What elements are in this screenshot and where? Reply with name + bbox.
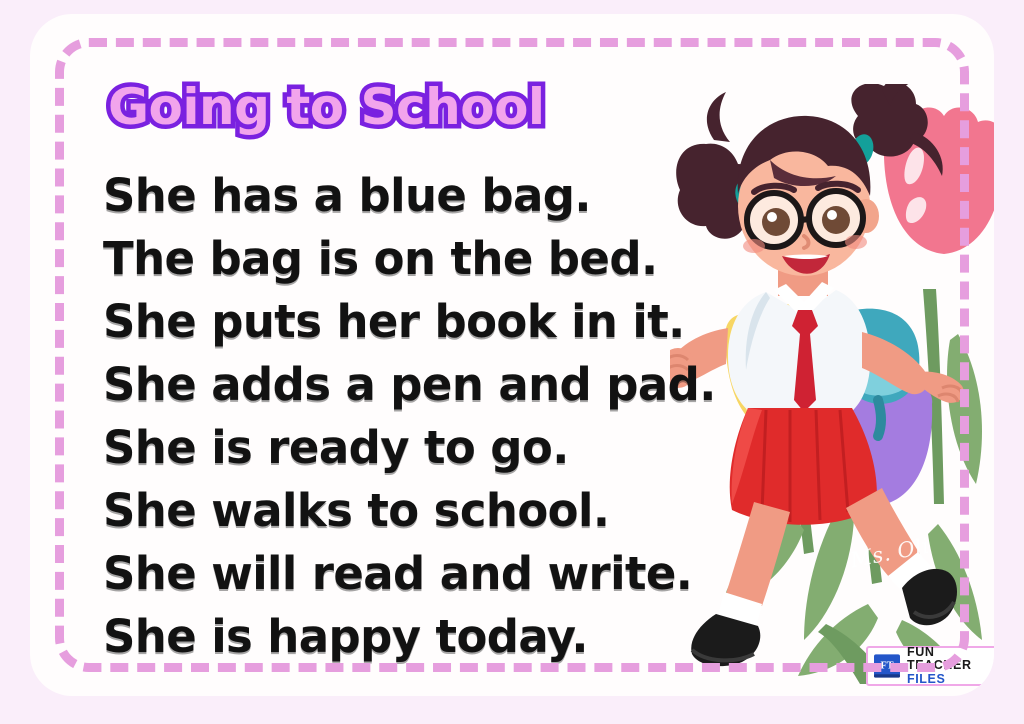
poem-line: She will read and write. <box>103 542 723 605</box>
worksheet-page: Going to School She has a blue bag. The … <box>0 0 1024 724</box>
poem-line: The bag is on the bed. <box>103 227 723 290</box>
poem-line: She has a blue bag. <box>103 164 723 227</box>
svg-text:FT: FT <box>880 661 893 672</box>
fun-teacher-files-logo: FT FUN TEACHER FILES <box>866 646 994 686</box>
poem-line: She adds a pen and pad. <box>103 353 723 416</box>
page-title: Going to School <box>108 82 545 132</box>
logo-line-primary: FUN TEACHER <box>907 646 994 672</box>
poem-text-block: She has a blue bag. The bag is on the be… <box>103 164 723 668</box>
book-icon: FT <box>873 653 901 679</box>
logo-text-block: FUN TEACHER FILES <box>907 646 994 685</box>
logo-line-secondary: FILES <box>907 673 994 686</box>
poem-line: She is ready to go. <box>103 416 723 479</box>
poem-line: She is happy today. <box>103 605 723 668</box>
poem-line: She walks to school. <box>103 479 723 542</box>
worksheet-card: Going to School She has a blue bag. The … <box>30 14 994 696</box>
poem-line: She puts her book in it. <box>103 290 723 353</box>
